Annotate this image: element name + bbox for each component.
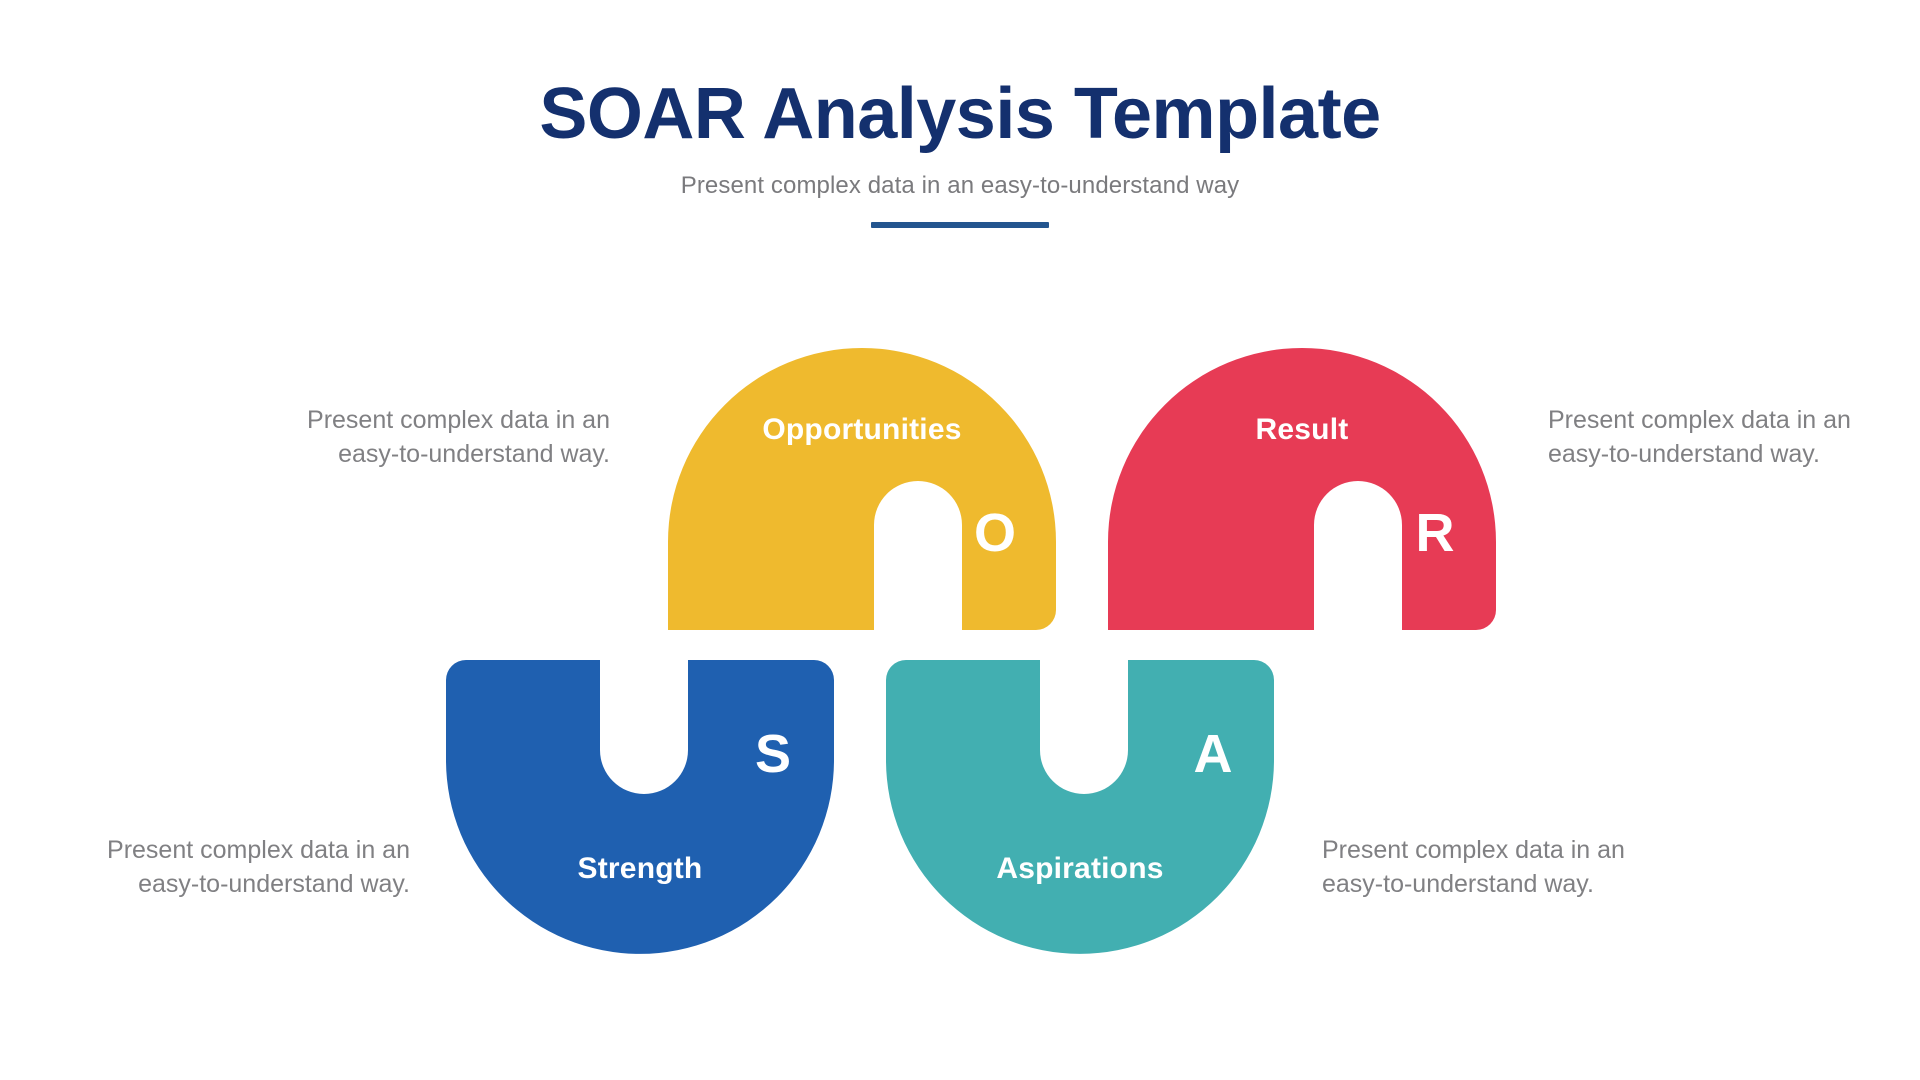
description-aspirations: Present complex data in an easy-to-under… bbox=[1322, 834, 1632, 901]
shape-label-strength: Strength bbox=[446, 852, 834, 886]
shape-letter-aspirations: A bbox=[1158, 723, 1268, 785]
slide-header: SOAR Analysis Template Present complex d… bbox=[0, 76, 1920, 228]
slide-canvas: SOAR Analysis Template Present complex d… bbox=[0, 0, 1920, 1080]
description-result: Present complex data in an easy-to-under… bbox=[1548, 404, 1858, 471]
divider-container bbox=[0, 222, 1920, 228]
shape-label-aspirations: Aspirations bbox=[886, 852, 1274, 886]
description-opportunities: Present complex data in an easy-to-under… bbox=[300, 404, 610, 471]
shape-letter-result: R bbox=[1380, 502, 1490, 564]
description-strength: Present complex data in an easy-to-under… bbox=[100, 834, 410, 901]
shape-result[interactable] bbox=[1108, 348, 1496, 630]
shape-aspirations[interactable] bbox=[886, 660, 1274, 954]
shape-letter-strength: S bbox=[718, 723, 828, 785]
shape-label-opportunities: Opportunities bbox=[668, 413, 1056, 447]
shape-opportunities[interactable] bbox=[668, 348, 1056, 630]
shape-letter-opportunities: O bbox=[940, 502, 1050, 564]
soar-diagram: Opportunities O Result R Strength S Aspi… bbox=[0, 330, 1920, 970]
shape-strength[interactable] bbox=[446, 660, 834, 954]
title-divider bbox=[871, 222, 1049, 228]
shape-label-result: Result bbox=[1108, 413, 1496, 447]
page-subtitle: Present complex data in an easy-to-under… bbox=[0, 172, 1920, 200]
page-title: SOAR Analysis Template bbox=[0, 76, 1920, 154]
